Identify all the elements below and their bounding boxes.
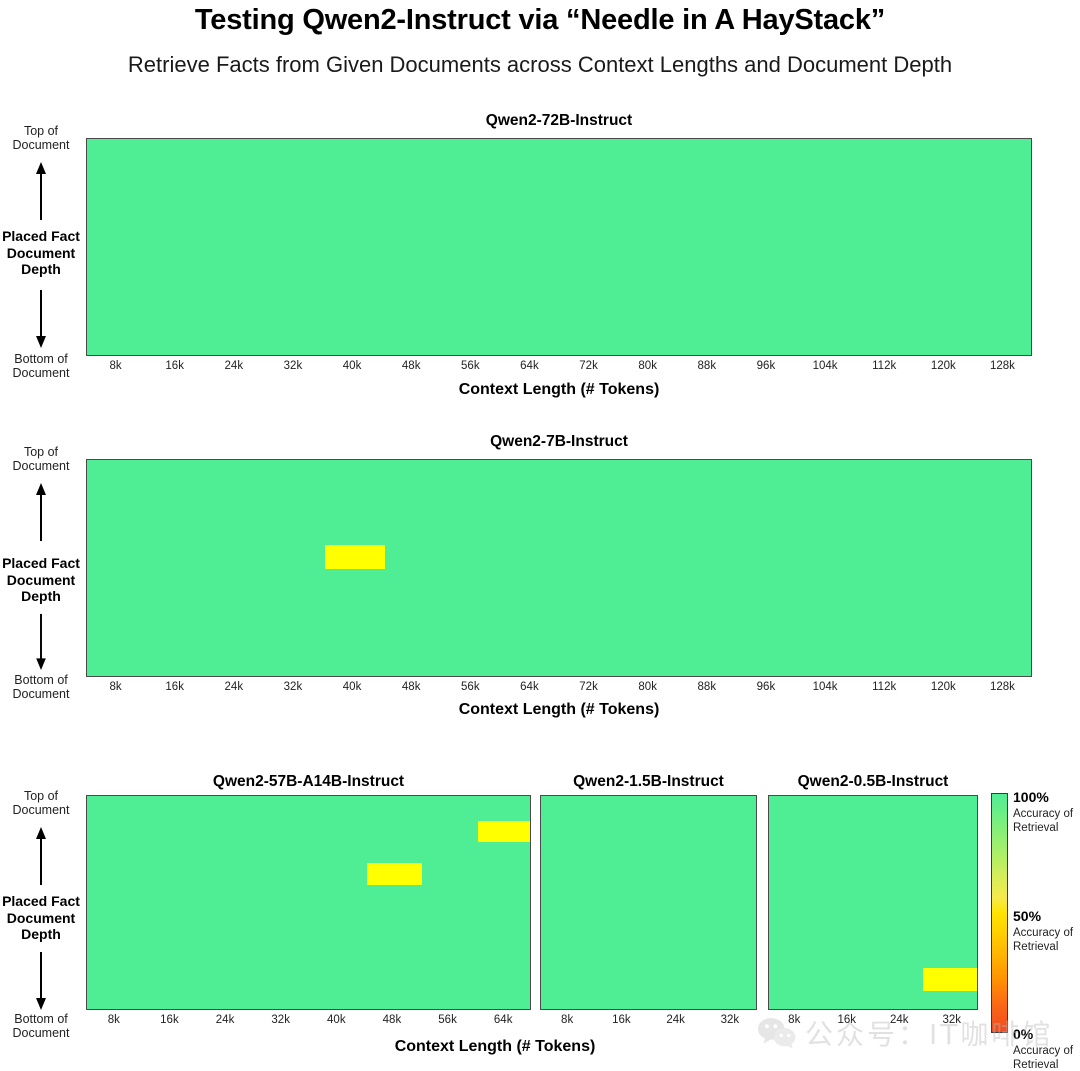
x-axis-tick: 8k (788, 1014, 800, 1026)
x-axis-tick: 16k (165, 681, 184, 693)
y-axis-up-arrow-row2 (34, 483, 48, 543)
x-axis-tick: 120k (931, 681, 956, 693)
colorbar-label-50: 50% (1013, 908, 1041, 924)
heatmap-qwen2-0-5b (768, 795, 978, 1010)
panel-title-qwen2-57b-a14b: Qwen2-57B-A14B-Instruct (86, 773, 531, 791)
heatmap-cell-low-1 (478, 821, 531, 842)
heatmap-qwen2-72b (86, 138, 1032, 356)
figure-root: Testing Qwen2-Instruct via “Needle in A … (0, 0, 1080, 1071)
x-axis-tick: 48k (402, 360, 421, 372)
x-axis-tick: 88k (698, 360, 717, 372)
x-axis-tick: 64k (494, 1014, 513, 1026)
x-axis-tick: 104k (813, 681, 838, 693)
heatmap-qwen2-7b (86, 459, 1032, 677)
x-axis-tick: 96k (757, 681, 776, 693)
x-axis-tick: 8k (108, 1014, 120, 1026)
heatmap-qwen2-57b-a14b (86, 795, 531, 1010)
y-axis-top-label-row1: Top of Document (0, 124, 82, 153)
y-axis-top-label-row3: Top of Document (0, 789, 82, 818)
x-axis-tick: 64k (520, 360, 539, 372)
x-axis-tick: 32k (284, 360, 303, 372)
x-axis-tick: 40k (343, 681, 362, 693)
y-axis-up-arrow-row1 (34, 162, 48, 222)
x-axis-tick: 32k (721, 1014, 740, 1026)
x-axis-tick: 16k (160, 1014, 179, 1026)
y-axis-up-arrow-row3 (34, 826, 48, 888)
y-axis-main-label-row2: Placed Fact Document Depth (0, 555, 82, 605)
figure-subtitle: Retrieve Facts from Given Documents acro… (0, 52, 1080, 78)
heatmap-qwen2-1-5b (540, 795, 757, 1010)
x-axis-tick: 96k (757, 360, 776, 372)
x-axis-tick: 128k (990, 681, 1015, 693)
x-axis-tick: 56k (461, 360, 480, 372)
figure-title: Testing Qwen2-Instruct via “Needle in A … (0, 4, 1080, 37)
x-axis-tick: 48k (402, 681, 421, 693)
x-axis-tick: 8k (109, 681, 121, 693)
x-axis-tick: 16k (165, 360, 184, 372)
x-axis-tick: 80k (638, 681, 657, 693)
x-axis-tick: 24k (225, 681, 244, 693)
x-axis-tick: 72k (579, 681, 598, 693)
x-axis-tick: 32k (942, 1014, 961, 1026)
x-axis-tick: 40k (343, 360, 362, 372)
x-axis-tick: 128k (990, 360, 1015, 372)
x-axis-tick: 24k (216, 1014, 235, 1026)
x-axis-label-row1: Context Length (# Tokens) (86, 381, 1032, 399)
colorbar-label-0: 0% (1013, 1026, 1033, 1042)
panel-title-qwen2-7b: Qwen2-7B-Instruct (86, 433, 1032, 451)
colorbar-label-100: 100% (1013, 789, 1049, 805)
x-axis-tick: 40k (327, 1014, 346, 1026)
x-axis-tick: 32k (284, 681, 303, 693)
x-axis-tick: 80k (638, 360, 657, 372)
heatmap-cell-low-1 (325, 545, 385, 569)
y-axis-down-arrow-row2 (34, 612, 48, 670)
x-axis-tick: 8k (561, 1014, 573, 1026)
y-axis-bottom-label-row2: Bottom of Document (0, 673, 82, 702)
colorbar-caption-0: Accuracy of Retrieval (1013, 1045, 1080, 1071)
x-axis-tick: 64k (520, 681, 539, 693)
x-axis-tick: 8k (109, 360, 121, 372)
panel-title-qwen2-72b: Qwen2-72B-Instruct (86, 112, 1032, 130)
y-axis-bottom-label-row1: Bottom of Document (0, 352, 82, 381)
x-axis-label-row2: Context Length (# Tokens) (86, 701, 1032, 719)
colorbar-caption-100: Accuracy of Retrieval (1013, 808, 1080, 836)
x-axis-label-row3: Context Length (# Tokens) (280, 1038, 710, 1056)
heatmap-cell-low-2 (367, 863, 422, 885)
x-axis-tick: 24k (890, 1014, 909, 1026)
x-axis-tick: 16k (837, 1014, 856, 1026)
panel-title-qwen2-0-5b: Qwen2-0.5B-Instruct (768, 773, 978, 791)
x-axis-tick: 120k (931, 360, 956, 372)
x-axis-tick: 72k (579, 360, 598, 372)
x-axis-tick: 32k (271, 1014, 290, 1026)
x-axis-tick: 16k (612, 1014, 631, 1026)
y-axis-down-arrow-row1 (34, 288, 48, 348)
y-axis-main-label-row3: Placed Fact Document Depth (0, 893, 82, 943)
x-axis-tick: 112k (872, 360, 896, 372)
x-axis-tick: 88k (698, 681, 717, 693)
x-axis-tick: 56k (438, 1014, 457, 1026)
x-axis-tick: 24k (225, 360, 244, 372)
y-axis-bottom-label-row3: Bottom of Document (0, 1012, 82, 1041)
x-axis-tick: 48k (383, 1014, 402, 1026)
heatmap-cell-low-1 (923, 968, 978, 991)
x-axis-tick: 24k (666, 1014, 685, 1026)
colorbar-caption-50: Accuracy of Retrieval (1013, 927, 1080, 955)
x-axis-tick: 104k (813, 360, 838, 372)
panel-title-qwen2-1-5b: Qwen2-1.5B-Instruct (540, 773, 757, 791)
y-axis-main-label-row1: Placed Fact Document Depth (0, 228, 82, 278)
y-axis-top-label-row2: Top of Document (0, 445, 82, 474)
x-axis-tick: 112k (872, 681, 896, 693)
y-axis-down-arrow-row3 (34, 950, 48, 1010)
x-axis-tick: 56k (461, 681, 480, 693)
colorbar (991, 793, 1008, 1033)
